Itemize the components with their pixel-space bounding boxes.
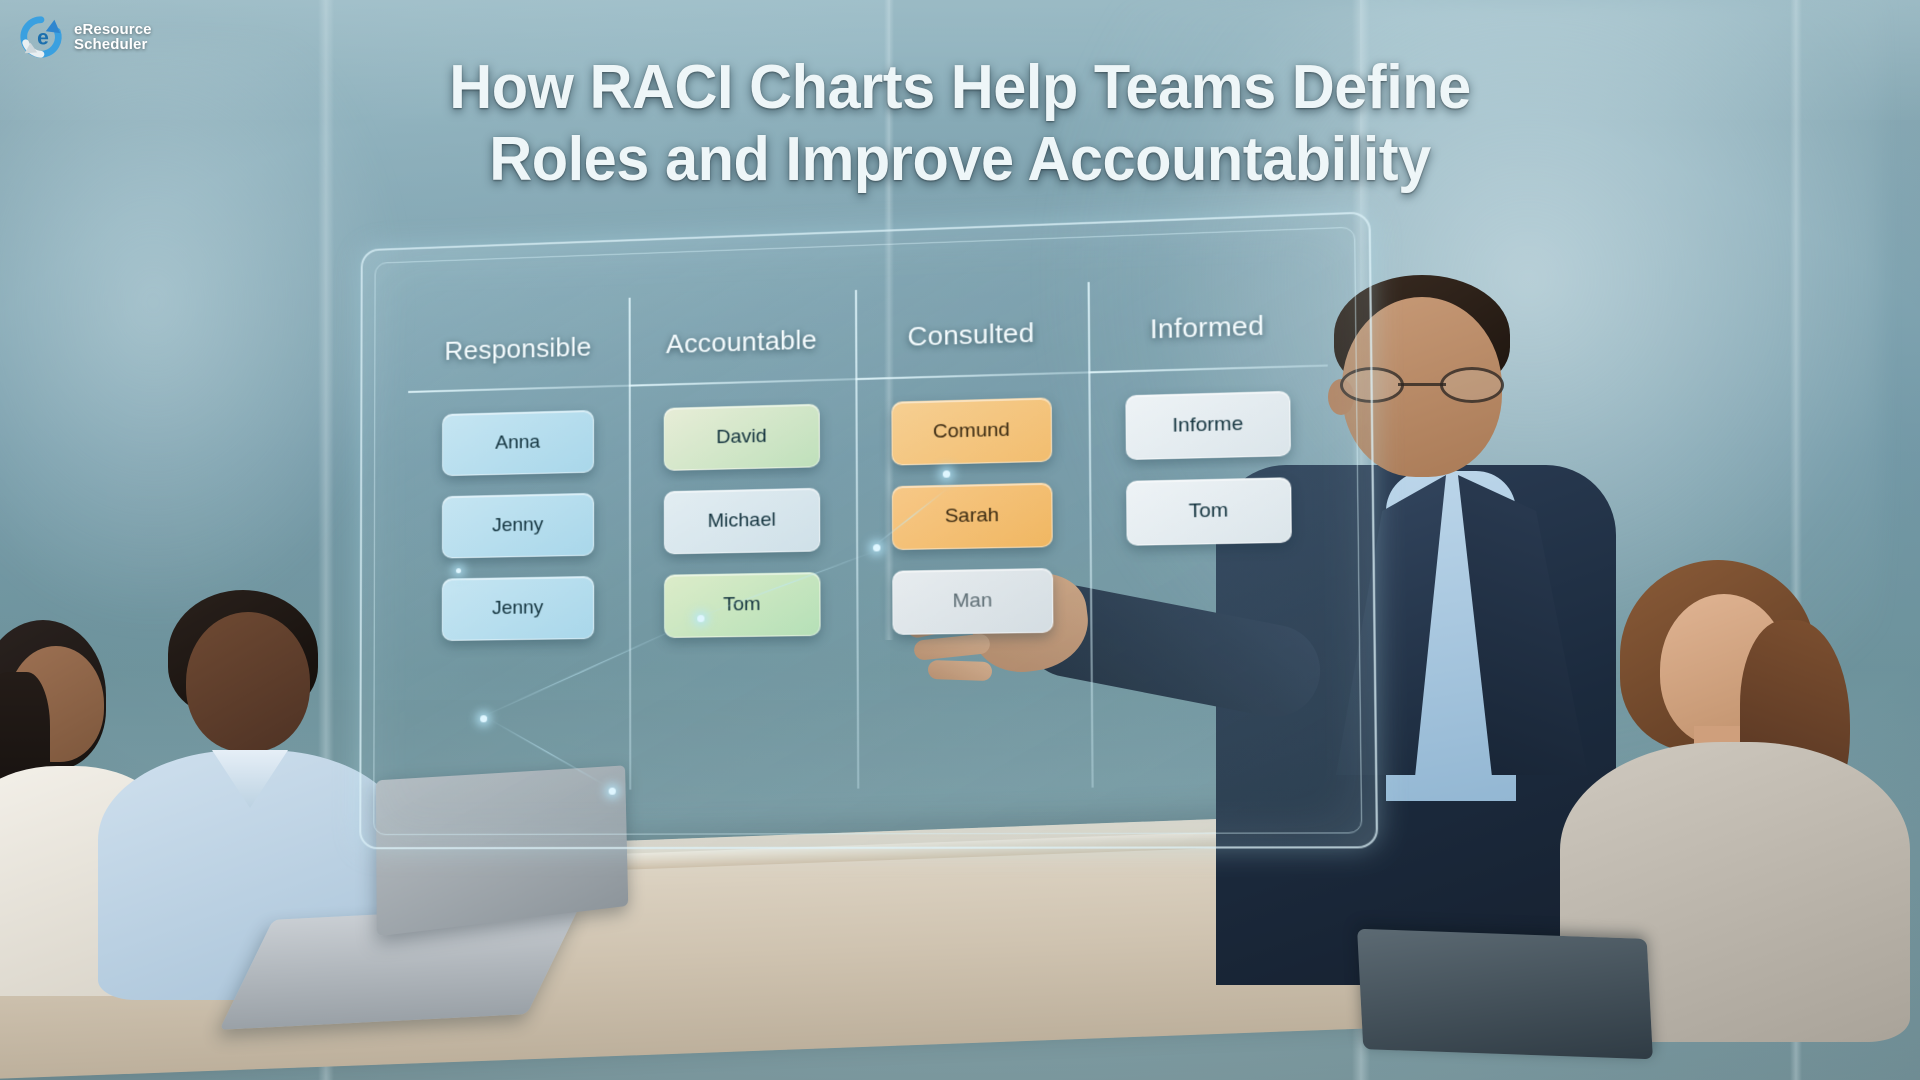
raci-cell[interactable]: Jenny — [442, 576, 594, 641]
svg-text:e: e — [37, 27, 49, 50]
raci-cell[interactable]: Comund — [891, 397, 1052, 465]
column-header-informed: Informed — [1088, 280, 1328, 373]
page-title: How RACI Charts Help Teams Define Roles … — [0, 52, 1920, 196]
brand-name-line2: Scheduler — [74, 37, 152, 52]
raci-hologram-panel: Responsible Anna Jenny Jenny Accountable… — [359, 211, 1378, 849]
raci-cell[interactable]: Man — [892, 568, 1053, 635]
raci-column-cells: Comund Sarah Man — [855, 373, 1090, 635]
column-header-consulted: Consulted — [855, 288, 1088, 380]
raci-cell[interactable]: Sarah — [892, 483, 1053, 551]
raci-cell[interactable]: Anna — [442, 410, 594, 476]
raci-column-responsible: Responsible Anna Jenny Jenny — [407, 298, 629, 791]
raci-column-cells: Anna Jenny Jenny — [408, 387, 629, 642]
attendee-woman-right — [1620, 560, 1920, 1080]
raci-cell[interactable]: David — [664, 404, 820, 471]
brand-name-line1: eResource — [74, 22, 152, 37]
column-header-accountable: Accountable — [629, 296, 856, 386]
raci-table: Responsible Anna Jenny Jenny Accountable… — [407, 274, 1332, 791]
raci-cell[interactable]: Informe — [1125, 391, 1291, 460]
page-title-line-2: Roles and Improve Accountability — [182, 124, 1737, 196]
hologram-node — [609, 788, 616, 795]
column-header-responsible: Responsible — [408, 304, 629, 393]
raci-column-consulted: Consulted Comund Sarah Man — [855, 282, 1092, 789]
raci-cell[interactable]: Tom — [664, 572, 821, 638]
brand-name: eResource Scheduler — [74, 22, 152, 53]
page-title-line-1: How RACI Charts Help Teams Define — [182, 52, 1737, 124]
raci-cell[interactable]: Tom — [1126, 477, 1292, 546]
raci-column-cells: Informe Tom — [1088, 367, 1329, 547]
tablet-device — [1357, 929, 1653, 1060]
raci-column-accountable: Accountable David Michael Tom — [629, 290, 858, 790]
hero-image: e eResource Scheduler How RACI Charts He… — [0, 0, 1920, 1080]
raci-cell[interactable]: Jenny — [442, 493, 594, 559]
raci-column-informed: Informed Informe Tom — [1088, 274, 1333, 788]
raci-cell[interactable]: Michael — [664, 488, 820, 555]
hologram-node — [456, 568, 461, 573]
